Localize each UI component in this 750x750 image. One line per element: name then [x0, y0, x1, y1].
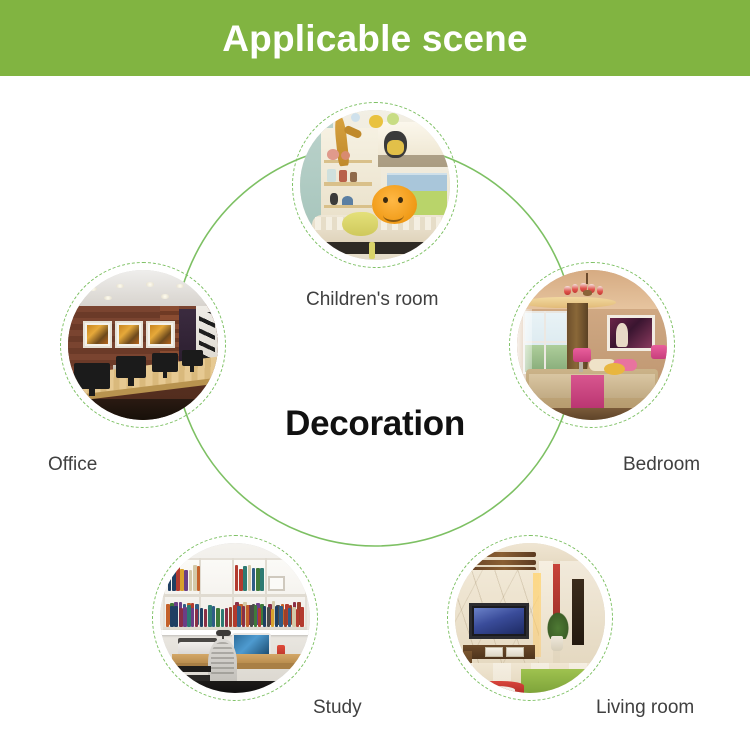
book-spine [204, 609, 207, 627]
node-label-bedroom: Bedroom [623, 454, 700, 476]
book-spine [267, 607, 270, 627]
book-spine [252, 568, 255, 591]
node-children-room[interactable] [292, 102, 458, 268]
book-spine [271, 609, 274, 627]
book-spine [243, 566, 247, 591]
book-spine [189, 570, 192, 591]
book-spine [221, 609, 225, 627]
book-spine [200, 608, 204, 627]
book-spine [179, 608, 183, 627]
book-spine [184, 570, 188, 591]
book-spine [191, 608, 194, 627]
node-study[interactable] [152, 535, 318, 701]
living-room-photo [455, 543, 605, 693]
node-label-living-room: Living room [596, 697, 694, 719]
book-spine [229, 607, 232, 627]
applicable-scene-page: Applicable scene [0, 0, 750, 750]
children-room-photo [300, 110, 450, 260]
book-spine [275, 606, 278, 627]
book-spine [254, 605, 257, 627]
bedroom-photo [517, 270, 667, 420]
book-spine [170, 606, 173, 627]
node-living-room[interactable] [447, 535, 613, 701]
book-spine [288, 608, 291, 627]
book-spine [242, 606, 246, 627]
book-spine [246, 605, 249, 627]
book-spine [260, 568, 264, 591]
book-spine [300, 607, 303, 627]
book-spine [237, 606, 241, 627]
book-spine [248, 565, 252, 591]
office-photo [68, 270, 218, 420]
book-spine [296, 609, 299, 627]
book-spine [279, 606, 282, 627]
node-label-children-room: Children's room [306, 289, 438, 311]
book-spine [292, 607, 296, 627]
page-title: Applicable scene [222, 20, 528, 57]
book-spine [208, 605, 212, 627]
book-spine [225, 608, 228, 627]
book-spine [166, 608, 169, 627]
scene-diagram: Children's room [0, 76, 750, 750]
book-spine [212, 606, 215, 627]
book-spine [168, 568, 172, 591]
header-banner: Applicable scene [0, 0, 750, 76]
book-spine [284, 609, 288, 627]
node-label-study: Study [313, 697, 362, 719]
book-spine [216, 608, 220, 627]
book-spine [263, 606, 267, 627]
diagram-center-label: Decoration [0, 404, 750, 444]
book-spine [197, 566, 200, 591]
book-spine [235, 565, 238, 591]
node-label-office: Office [48, 454, 97, 476]
book-spine [250, 605, 253, 627]
book-spine [256, 568, 260, 591]
book-spine [233, 605, 236, 627]
book-spine [174, 606, 178, 627]
book-spine [195, 609, 198, 627]
study-photo [160, 543, 310, 693]
